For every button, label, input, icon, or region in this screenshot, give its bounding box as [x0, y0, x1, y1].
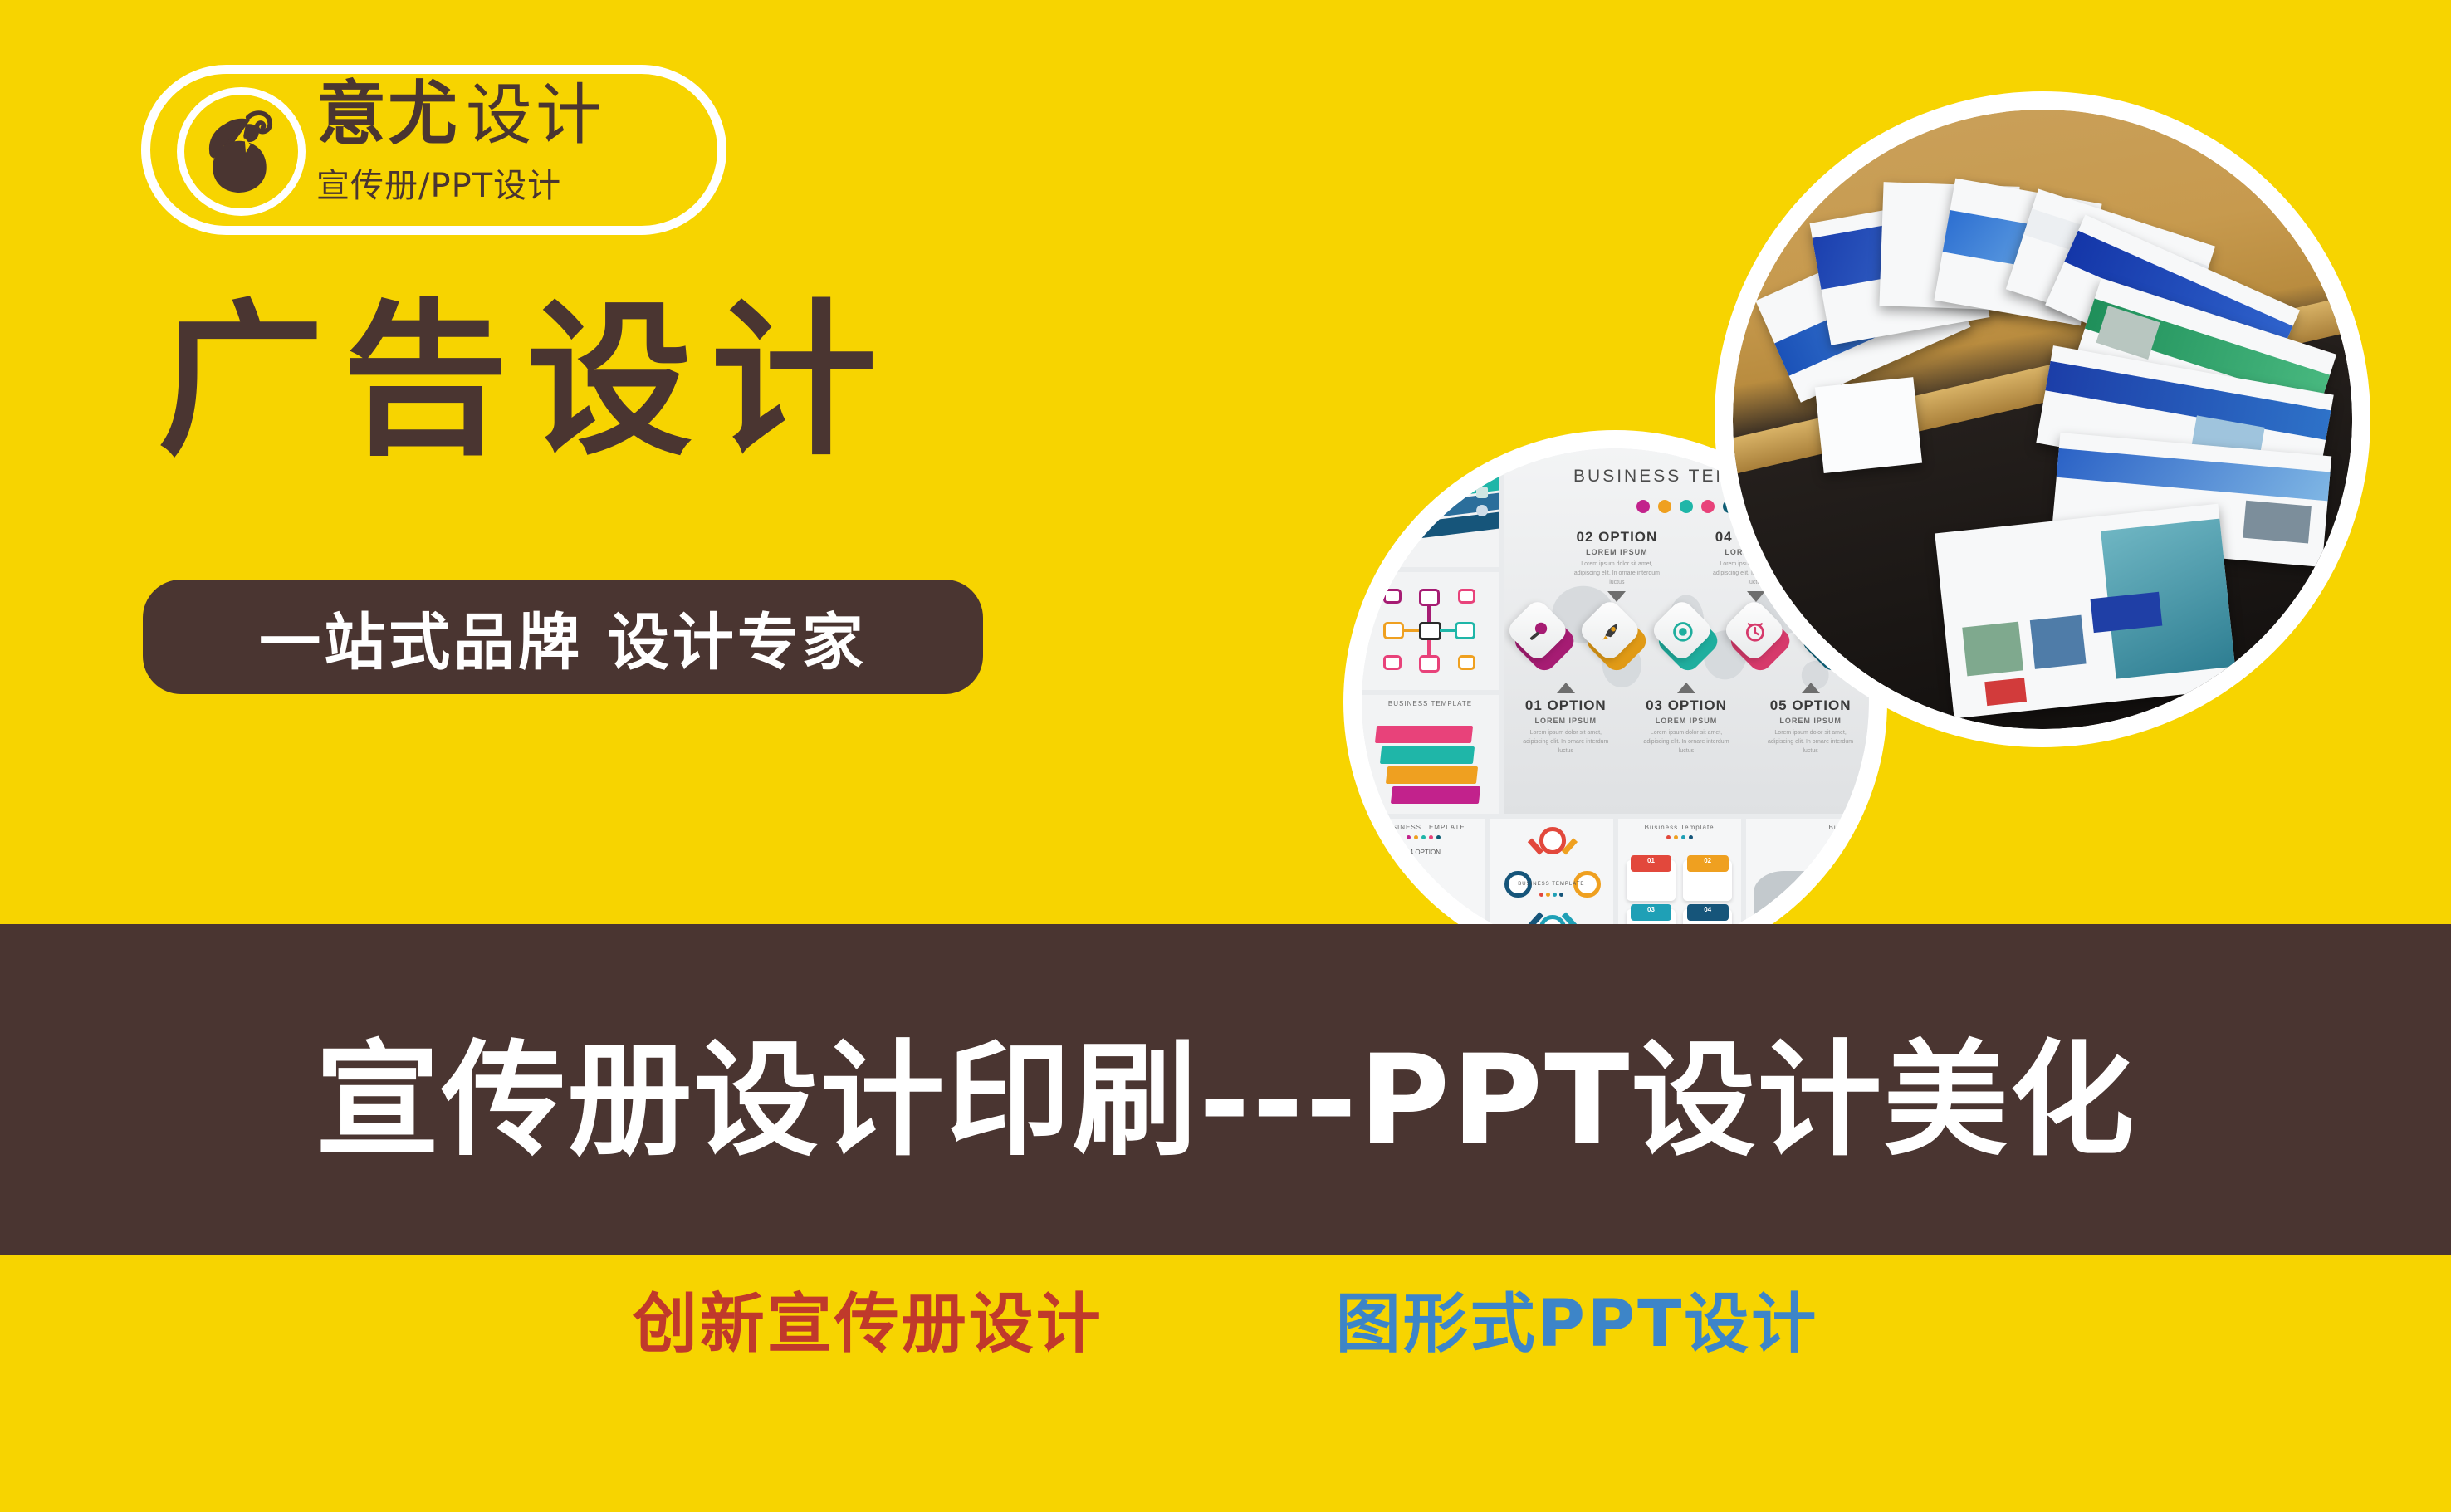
mini-slide-caption: 04 OPTION [1362, 849, 1485, 856]
option-sub: LOREM IPSUM [1642, 717, 1730, 725]
service-banner: 宣传册设计印刷---PPT设计美化 [0, 924, 2451, 1255]
funnel-slide: BUSINESS TEMPLATE [1362, 695, 1499, 814]
option-sub: LOREM IPSUM [1522, 717, 1610, 725]
brand-name-light: 设计 [466, 82, 605, 149]
mini-slide-caption: 06 [1842, 860, 1855, 873]
option-sub: LOREM IPSUM [1573, 548, 1661, 556]
layered-ribbon-slide [1362, 448, 1499, 567]
diamond-03 [1659, 607, 1714, 662]
wooden-desk-background [1733, 110, 2352, 729]
step-card-label: 02 [1687, 855, 1729, 872]
magnifier-icon [1525, 619, 1552, 645]
option-heading: 01 OPTION [1522, 697, 1610, 714]
mini-slide-title: BUSINESS TEMPLATE [1362, 700, 1499, 707]
tagline-text: 一站式品牌 设计专家 [259, 593, 867, 682]
option-heading: 03 OPTION [1642, 697, 1730, 714]
mini-slide-title: Business Template [1618, 824, 1741, 831]
option-body: Lorem ipsum dolor sit amet, adipiscing e… [1767, 728, 1855, 756]
printed-brochures-photo [1715, 91, 2370, 747]
option-body: Lorem ipsum dolor sit amet, adipiscing e… [1642, 728, 1730, 756]
brand-name-bold: 意尤 [316, 79, 459, 149]
option-body: Lorem ipsum dolor sit amet, adipiscing e… [1573, 560, 1661, 588]
diamond-02 [1587, 607, 1641, 662]
mini-slide-title: Business [1746, 824, 1869, 831]
diamond-01 [1514, 607, 1569, 662]
feature-item-brochure: 创新宣传册设计 [633, 1262, 1103, 1365]
option-block-01: 01 OPTION LOREM IPSUM Lorem ipsum dolor … [1522, 683, 1610, 756]
option-block-02: 02 OPTION LOREM IPSUM Lorem ipsum dolor … [1573, 529, 1661, 603]
step-card-label: 01 [1631, 855, 1672, 872]
leaf-bird-mark-icon [177, 87, 306, 216]
tagline-badge: 一站式品牌 设计专家 [143, 580, 983, 694]
feature-row: 创新宣传册设计 图形式PPT设计 [0, 1262, 2451, 1478]
mini-slide-title: BUSINESS TEMPLATE [1362, 824, 1485, 831]
step-card-label: 04 [1687, 904, 1729, 921]
page-title: 广告设计 [158, 299, 895, 465]
option-body: Lorem ipsum dolor sit amet, adipiscing e… [1522, 728, 1610, 756]
rocket-icon [1597, 619, 1624, 645]
cross-grid-slide [1362, 572, 1499, 691]
brand-subtitle: 宣传册/PPT设计 [316, 159, 715, 207]
target-icon [1670, 619, 1696, 645]
poster-canvas: 意尤 设计 宣传册/PPT设计 广告设计 一站式品牌 设计专家 [0, 0, 2451, 1512]
option-block-03: 03 OPTION LOREM IPSUM Lorem ipsum dolor … [1642, 683, 1730, 756]
feature-item-ppt: 图形式PPT设计 [1336, 1262, 1819, 1365]
step-card-label: 03 [1631, 904, 1672, 921]
mini-slide-center-label: BUSINESS TEMPLATE [1490, 882, 1612, 887]
option-heading: 02 OPTION [1573, 529, 1661, 546]
step-card-02: 02 [1683, 860, 1732, 902]
service-banner-text: 宣传册设计印刷---PPT设计美化 [316, 1000, 2136, 1180]
brand-logo: 意尤 设计 宣传册/PPT设计 [141, 65, 726, 235]
step-card-01: 01 [1627, 860, 1676, 902]
brand-logo-text: 意尤 设计 宣传册/PPT设计 [316, 79, 715, 207]
